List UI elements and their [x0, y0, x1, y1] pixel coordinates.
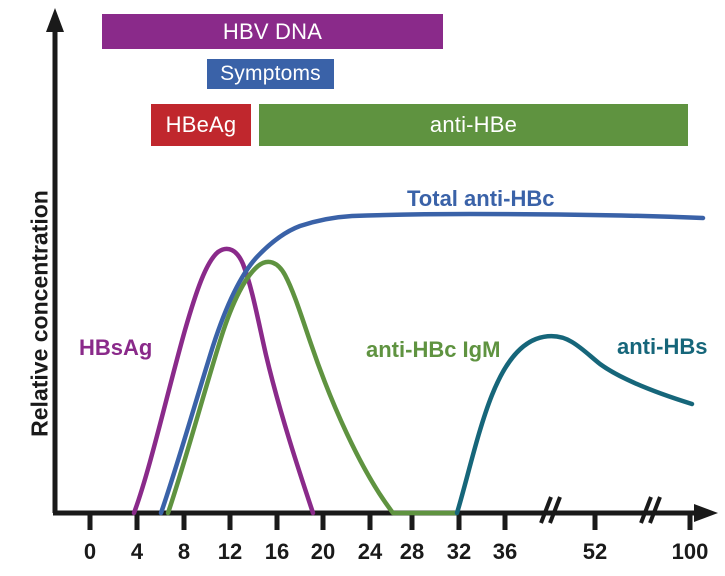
curve-anti-hbs: [457, 336, 692, 513]
x-axis-ticks: [90, 515, 690, 530]
x-tick-label-24: 24: [358, 539, 382, 565]
curve-anti-hbc-igm: [168, 262, 456, 513]
hbv-serology-chart: HBV DNA Symptoms HBeAg anti-HBe HBsAg To…: [0, 0, 725, 576]
x-tick-label-20: 20: [311, 539, 335, 565]
x-axis: [53, 504, 718, 522]
x-tick-label-36: 36: [493, 539, 517, 565]
marker-bar-symptoms-label: Symptoms: [220, 62, 321, 86]
axis-break-marks: [541, 497, 660, 523]
marker-bar-hbeag: HBeAg: [151, 104, 251, 146]
marker-bar-anti-hbe-label: anti-HBe: [430, 112, 517, 138]
marker-bar-hbv-dna: HBV DNA: [102, 14, 443, 49]
marker-bar-anti-hbe: anti-HBe: [259, 104, 688, 146]
curve-label-hbsag: HBsAg: [79, 337, 152, 359]
x-tick-label-28: 28: [400, 539, 424, 565]
marker-bar-hbv-dna-label: HBV DNA: [223, 19, 322, 45]
chart-canvas: [0, 0, 725, 576]
x-tick-label-4: 4: [131, 539, 143, 565]
curve-label-total-anti-hbc: Total anti-HBc: [407, 188, 554, 210]
x-tick-label-12: 12: [218, 539, 242, 565]
x-tick-label-16: 16: [265, 539, 289, 565]
curve-label-anti-hbc-igm: anti-HBc IgM: [366, 339, 500, 361]
curve-total-anti-hbc: [161, 214, 703, 513]
x-tick-label-100: 100: [672, 539, 709, 565]
curve-hbsag: [134, 249, 313, 513]
y-axis-title: Relative concentration: [27, 119, 54, 509]
x-tick-label-32: 32: [447, 539, 471, 565]
x-tick-label-52: 52: [583, 539, 607, 565]
x-tick-label-8: 8: [178, 539, 190, 565]
x-tick-label-0: 0: [84, 539, 96, 565]
marker-bar-symptoms: Symptoms: [207, 59, 334, 89]
curve-label-anti-hbs: anti-HBs: [617, 336, 707, 358]
marker-bar-hbeag-label: HBeAg: [166, 112, 237, 138]
